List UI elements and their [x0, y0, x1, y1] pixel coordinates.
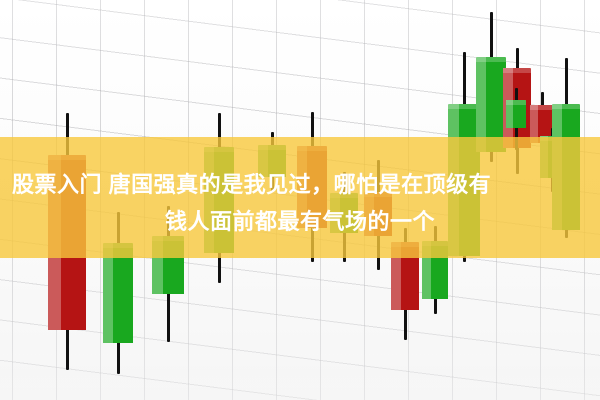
caption-line-2: 钱人面前都最有气场的一个 [0, 203, 600, 240]
candlestick-banner: 股票入门 唐国强真的是我见过，哪怕是在顶级有 钱人面前都最有气场的一个 [0, 0, 600, 400]
candlestick-body [506, 100, 526, 128]
candlestick-body [103, 243, 133, 343]
caption-line-1: 股票入门 唐国强真的是我见过，哪怕是在顶级有 [0, 166, 600, 203]
